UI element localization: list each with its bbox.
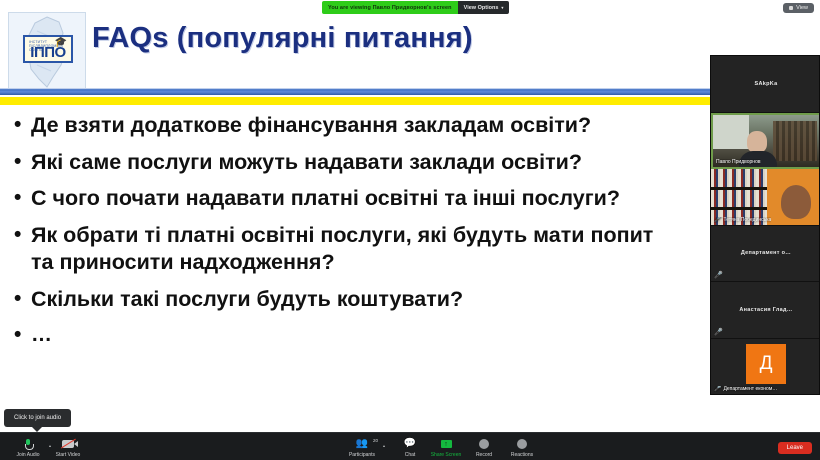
toolbar-item-label: Participants xyxy=(349,452,375,458)
toolbar-item-label: Chat xyxy=(405,452,416,458)
participant-name-center: SAkpKa xyxy=(711,81,820,87)
bullet-text: … xyxy=(31,322,814,349)
bullet-text: Де взяти додаткове фінансування закладам… xyxy=(31,112,814,140)
bullet-item: •Які саме послуги можуть надавати заклад… xyxy=(14,149,814,177)
toolbar-start-video-button[interactable]: Start Video xyxy=(46,438,90,458)
reactions-icon xyxy=(517,438,527,450)
bullet-marker: • xyxy=(14,185,31,212)
participant-tile[interactable]: Департамент о…🎤 xyxy=(711,226,820,283)
participant-name-label: 🎤Тетяна Побединська xyxy=(714,217,771,223)
participant-name-text: Департамент економ… xyxy=(723,386,777,392)
graduation-cap-icon: 🎓 xyxy=(55,38,67,48)
bullet-item: •Де взяти додаткове фінансування заклада… xyxy=(14,112,814,140)
chevron-down-icon: ▾ xyxy=(501,5,503,10)
share-screen-icon: ↑ xyxy=(441,438,452,450)
participant-tile[interactable]: 🎤Тетяна Побединська xyxy=(711,169,820,226)
bullet-text: Як обрати ті платні освітні послуги, які… xyxy=(31,222,814,277)
grid-icon xyxy=(789,6,793,10)
leave-button[interactable]: Leave xyxy=(778,442,812,454)
bullet-text: Які саме послуги можуть надавати заклади… xyxy=(31,149,814,177)
participant-name-center: Анастасия Глад… xyxy=(711,307,820,313)
bullet-item: •Як обрати ті платні освітні послуги, як… xyxy=(14,222,814,277)
toolbar-item-label: Share Screen xyxy=(431,452,462,458)
participant-name-center: Департамент о… xyxy=(711,250,820,256)
screen-share-notification: You are viewing Павло Придворнов's scree… xyxy=(322,1,509,14)
bullet-marker: • xyxy=(14,286,31,313)
bullet-list: •Де взяти додаткове фінансування заклада… xyxy=(14,112,814,358)
chat-bubble-icon: 💬 xyxy=(404,438,416,450)
participant-name-label: 🎤Департамент економ… xyxy=(714,386,777,392)
ippo-logo-plate: ІНСТИТУТ ПІСЛЯДИПЛОМНОЇ ОСВІТИ 🎓 ІППО xyxy=(23,35,73,63)
view-layout-button[interactable]: View xyxy=(783,3,814,13)
meeting-toolbar: Join Audio▴Start Video👥Participants▴20💬C… xyxy=(0,432,820,460)
participant-tile[interactable]: Анастасия Глад…🎤 xyxy=(711,282,820,339)
toolbar-item-label: Join Audio xyxy=(16,452,39,458)
zoom-meeting-window: ІНСТИТУТ ПІСЛЯДИПЛОМНОЇ ОСВІТИ 🎓 ІППО FA… xyxy=(0,0,820,460)
share-notice-text: You are viewing Павло Придворнов's scree… xyxy=(322,1,458,14)
participant-tile[interactable]: Д🎤Департамент економ… xyxy=(711,339,820,396)
bullet-marker: • xyxy=(14,222,31,249)
video-background xyxy=(713,115,749,149)
people-icon: 👥 xyxy=(356,438,368,450)
microphone-icon xyxy=(25,438,32,450)
shelf-line xyxy=(711,187,769,190)
muted-microphone-icon: 🎤 xyxy=(714,329,723,336)
muted-microphone-icon: 🎤 xyxy=(714,217,721,223)
video-person-head xyxy=(781,185,811,219)
participant-name-text: Тетяна Побединська xyxy=(723,217,771,223)
participant-tile[interactable]: Павло Придворнов xyxy=(711,113,820,170)
toolbar-item-label: Reactions xyxy=(511,452,533,458)
bullet-item: •Скільки такі послуги будуть коштувати? xyxy=(14,286,814,314)
join-audio-tooltip: Click to join audio xyxy=(4,409,71,427)
shared-screen-area: ІНСТИТУТ ПІСЛЯДИПЛОМНОЇ ОСВІТИ 🎓 ІППО FA… xyxy=(0,0,820,432)
camera-off-icon xyxy=(62,438,74,450)
avatar: Д xyxy=(746,344,786,384)
divider-blue xyxy=(0,88,820,95)
toolbar-item-label: Record xyxy=(476,452,492,458)
muted-microphone-icon: 🎤 xyxy=(714,272,723,279)
view-options-button[interactable]: View Options ▾ xyxy=(458,1,510,14)
record-icon xyxy=(479,438,489,450)
bullet-marker: • xyxy=(14,322,31,349)
toolbar-participants-button[interactable]: 👥Participants▴20 xyxy=(340,438,384,458)
toolbar-join-audio-button[interactable]: Join Audio▴ xyxy=(6,438,50,458)
video-bookshelf xyxy=(773,121,817,161)
bullet-text: Скільки такі послуги будуть коштувати? xyxy=(31,286,814,314)
toolbar-item-label: Start Video xyxy=(56,452,81,458)
bullet-marker: • xyxy=(14,149,31,176)
participants-count: 20 xyxy=(373,438,378,443)
divider-yellow xyxy=(0,97,820,105)
view-options-label: View Options xyxy=(464,5,499,11)
participant-name-label: Павло Придворнов xyxy=(716,159,761,165)
bullet-text: С чого почати надавати платні освітні та… xyxy=(31,185,814,213)
view-layout-label: View xyxy=(796,5,808,11)
bullet-item: •… xyxy=(14,322,814,349)
participant-tile[interactable]: SAkpKa xyxy=(711,56,820,113)
participant-filmstrip[interactable]: SAkpKaПавло Придворнов🎤Тетяна Побединськ… xyxy=(710,55,820,395)
chevron-up-icon[interactable]: ▴ xyxy=(383,443,385,448)
muted-microphone-icon: 🎤 xyxy=(714,386,721,392)
bullet-item: •С чого почати надавати платні освітні т… xyxy=(14,185,814,213)
bullet-marker: • xyxy=(14,112,31,139)
toolbar-reactions-button[interactable]: Reactions xyxy=(500,438,544,458)
page-title: FAQs (популярні питання) xyxy=(92,22,473,55)
participant-name-text: Павло Придворнов xyxy=(716,159,761,165)
shelf-line xyxy=(711,207,769,210)
ippo-logo: ІНСТИТУТ ПІСЛЯДИПЛОМНОЇ ОСВІТИ 🎓 ІППО xyxy=(8,12,86,90)
video-person-head xyxy=(747,131,767,153)
presentation-slide: ІНСТИТУТ ПІСЛЯДИПЛОМНОЇ ОСВІТИ 🎓 ІППО FA… xyxy=(0,0,820,432)
